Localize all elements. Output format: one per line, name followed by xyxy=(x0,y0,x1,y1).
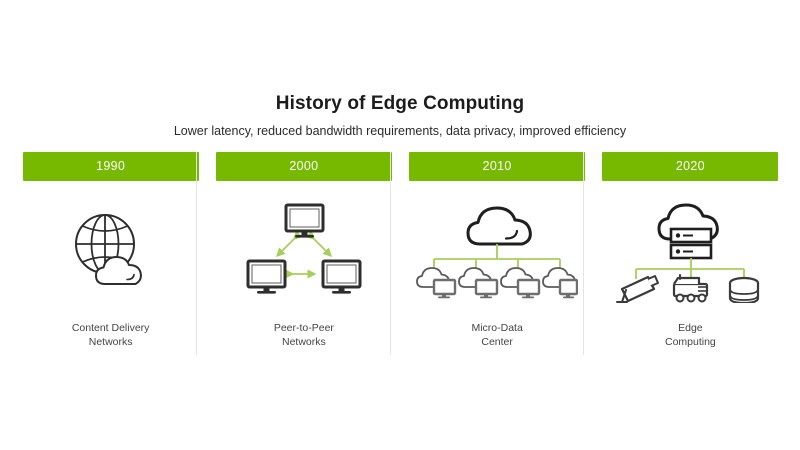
heading-block: History of Edge Computing Lower latency,… xyxy=(0,92,800,139)
cloud-tree-four-nodes-icon xyxy=(416,200,578,307)
timeline-columns: 1990 xyxy=(14,152,787,357)
security-camera-icon xyxy=(617,276,658,302)
year-label: 2020 xyxy=(676,160,705,173)
cloud-monitor-node xyxy=(459,268,497,298)
server-rack-top xyxy=(671,229,711,242)
year-bar-2010[interactable]: 2010 xyxy=(409,152,585,181)
year-bar-2000[interactable]: 2000 xyxy=(216,152,392,181)
timeline-column-2010[interactable]: 2010 xyxy=(401,152,594,357)
timeline-column-2000[interactable]: 2000 xyxy=(207,152,400,357)
database-icon xyxy=(730,278,758,303)
timeline-column-1990[interactable]: 1990 xyxy=(14,152,207,357)
year-label: 2010 xyxy=(483,160,512,173)
timeline-column-2020[interactable]: 2020 xyxy=(594,152,787,357)
year-label: 2000 xyxy=(289,160,318,173)
monitor-right xyxy=(323,261,360,294)
timeline-caption: Content Delivery Networks xyxy=(72,321,150,357)
year-bar-1990[interactable]: 1990 xyxy=(23,152,199,181)
cloud-servers-edge-devices-icon xyxy=(614,199,766,308)
monitor-top xyxy=(286,205,323,238)
timeline-caption: Edge Computing xyxy=(665,321,716,357)
year-bar-2020[interactable]: 2020 xyxy=(602,152,778,181)
icon-area-2000 xyxy=(207,181,400,321)
page-title: History of Edge Computing xyxy=(0,92,800,116)
globe-cloud-icon xyxy=(65,208,157,299)
cloud-monitor-node xyxy=(417,268,455,298)
rover-vehicle-icon xyxy=(674,275,707,302)
cloud-monitor-node xyxy=(501,268,539,298)
year-label: 1990 xyxy=(96,160,125,173)
monitor-left xyxy=(248,261,285,294)
page-subtitle: Lower latency, reduced bandwidth require… xyxy=(0,116,800,139)
icon-area-2020 xyxy=(594,181,787,321)
icon-area-2010 xyxy=(401,181,594,321)
timeline-caption: Micro-Data Center xyxy=(471,321,522,357)
server-rack-bottom xyxy=(671,245,711,258)
cloud-monitor-node xyxy=(543,268,577,298)
infographic-canvas: History of Edge Computing Lower latency,… xyxy=(0,0,800,450)
icon-area-1990 xyxy=(14,181,207,321)
three-monitors-peer-network-icon xyxy=(244,203,364,304)
timeline-caption: Peer-to-Peer Networks xyxy=(274,321,334,357)
